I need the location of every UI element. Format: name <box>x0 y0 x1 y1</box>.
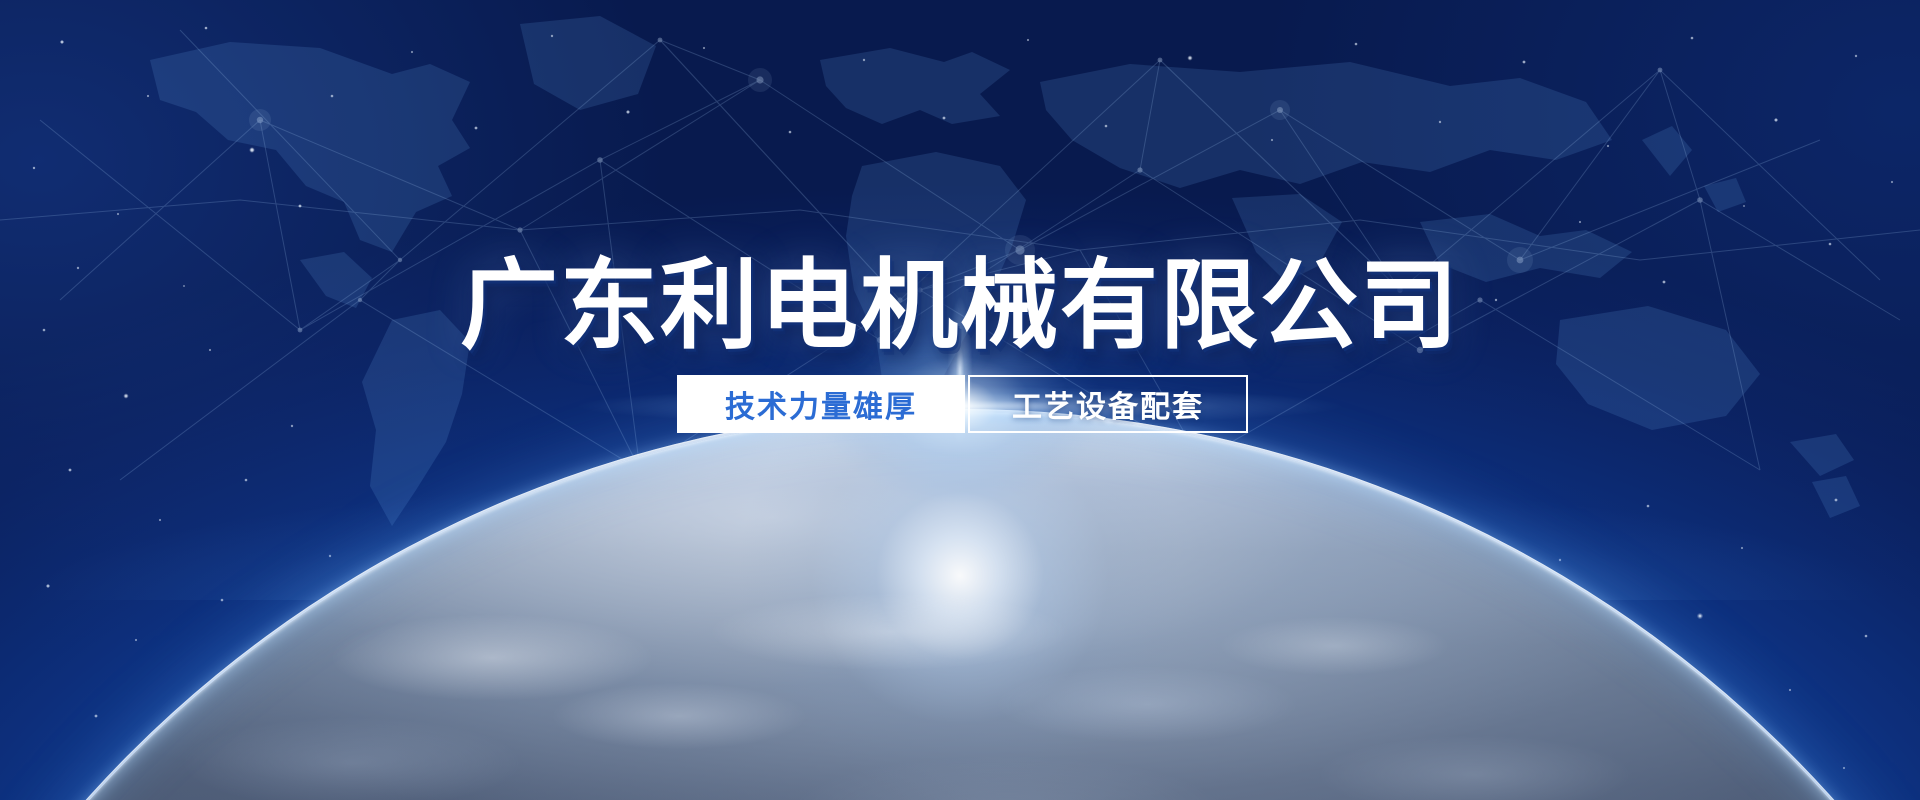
company-title: 广东利电机械有限公司 <box>460 256 1460 354</box>
tagline-secondary: 工艺设备配套 <box>968 375 1248 433</box>
earth-atmosphere-rim <box>0 409 1920 800</box>
earth-sphere <box>0 412 1920 800</box>
tagline-group: 技术力量雄厚 工艺设备配套 <box>677 375 1248 433</box>
hero-banner: 广东利电机械有限公司 技术力量雄厚 工艺设备配套 <box>0 0 1920 800</box>
tagline-primary: 技术力量雄厚 <box>677 375 965 433</box>
